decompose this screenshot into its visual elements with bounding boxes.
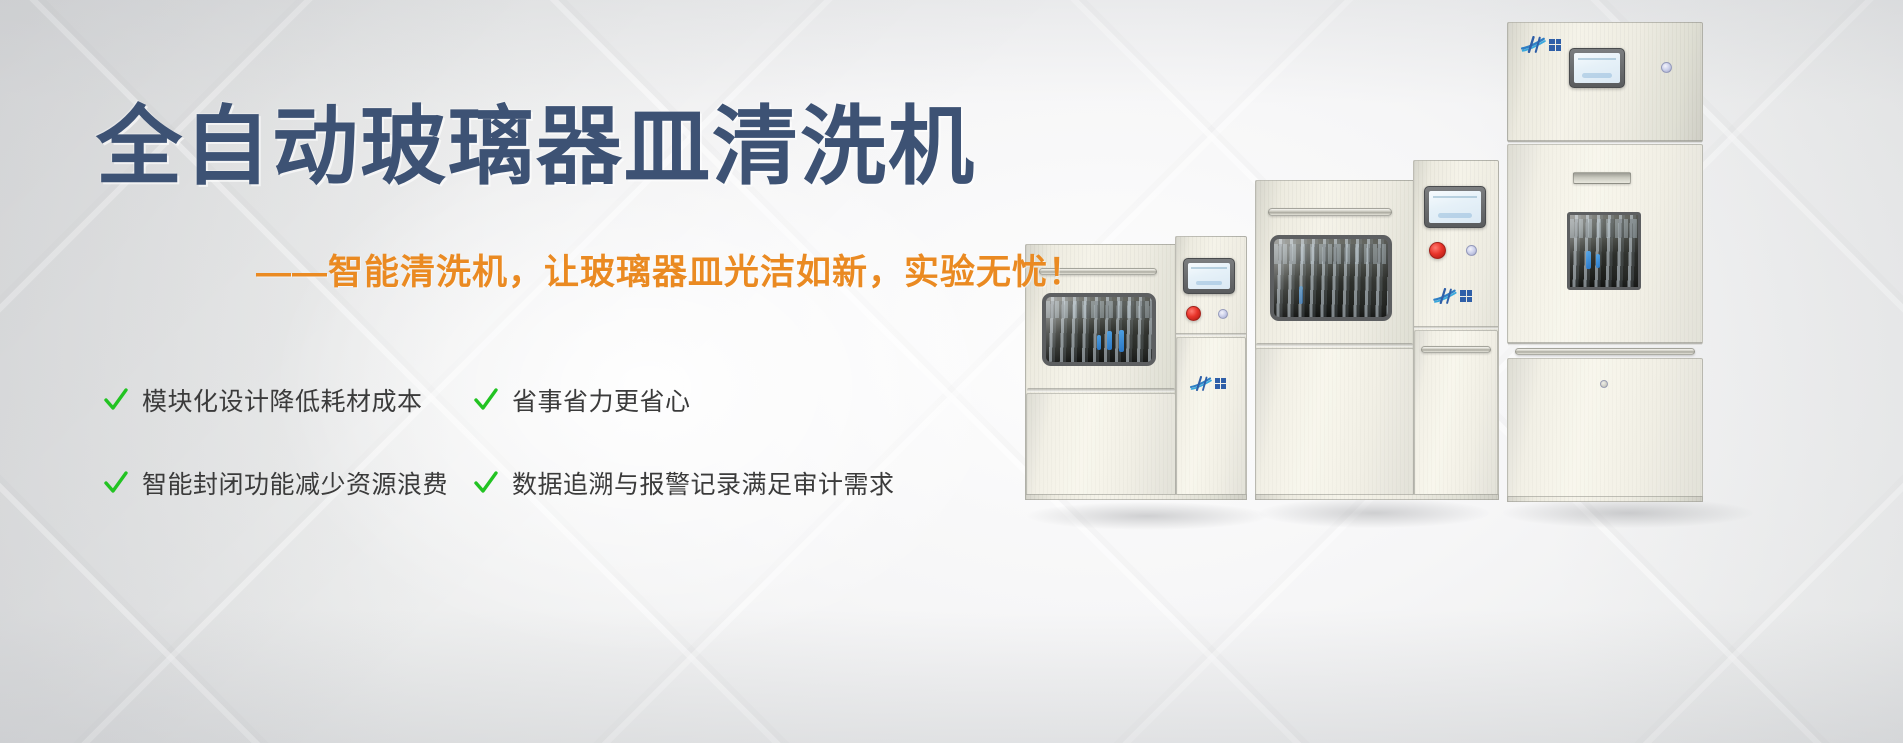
emergency-stop-button[interactable] xyxy=(1186,306,1201,321)
feature-list: 模块化设计降低耗材成本 省事省力更省心 智能封闭功能减少资源浪费 数据追溯与报警… xyxy=(104,382,964,501)
tower-seam xyxy=(1176,333,1246,336)
brand-squares-icon xyxy=(1549,39,1561,51)
check-icon xyxy=(474,387,498,413)
product-banner: 全自动玻璃器皿清洗机 ——智能清洗机，让玻璃器皿光洁如新，实验无忧！ 模块化设计… xyxy=(0,0,1903,743)
hmi-touchscreen[interactable] xyxy=(1424,186,1486,228)
list-item: 数据追溯与报警记录满足审计需求 xyxy=(474,465,894,501)
hmi-screen-content xyxy=(1574,53,1620,83)
section-seam xyxy=(1508,342,1702,346)
brand-squares-icon xyxy=(1215,378,1226,389)
window-glass-reflection xyxy=(1274,239,1388,317)
caster-wheel xyxy=(1275,496,1293,518)
lower-access-door[interactable] xyxy=(1255,348,1414,496)
brand-squares-icon xyxy=(1460,290,1472,302)
check-icon xyxy=(104,387,128,413)
list-item: 智能封闭功能减少资源浪费 xyxy=(104,465,474,501)
check-icon xyxy=(474,470,498,496)
power-indicator-icon[interactable] xyxy=(1661,62,1672,73)
list-item: 省事省力更省心 xyxy=(474,382,894,418)
list-item: 模块化设计降低耗材成本 xyxy=(104,382,474,418)
lower-cabinet-door[interactable] xyxy=(1507,358,1703,498)
cabinet-lock-icon[interactable] xyxy=(1600,380,1608,388)
list-item-label: 省事省力更省心 xyxy=(512,382,691,418)
lower-door-handle[interactable] xyxy=(1515,348,1695,355)
door-handle[interactable] xyxy=(1268,208,1392,216)
door-seam xyxy=(1256,343,1413,347)
window-glass-reflection xyxy=(1570,215,1638,287)
brand-h-mark xyxy=(1190,376,1212,391)
recessed-door-handle[interactable] xyxy=(1573,172,1631,184)
product-image-group xyxy=(1003,0,1903,743)
list-item-label: 数据追溯与报警记录满足审计需求 xyxy=(512,465,895,501)
page-title: 全自动玻璃器皿清洗机 xyxy=(96,101,976,194)
hmi-screen-content xyxy=(1188,263,1230,289)
brand-logo xyxy=(1521,36,1561,53)
check-icon xyxy=(104,470,128,496)
tower-seam xyxy=(1414,326,1498,329)
product-freestanding-washer xyxy=(1255,160,1499,504)
caster-wheel xyxy=(1207,496,1225,518)
list-item-label: 智能封闭功能减少资源浪费 xyxy=(142,465,448,501)
tower-lower-door[interactable] xyxy=(1414,330,1498,498)
brand-logo xyxy=(1190,376,1226,391)
caster-wheel xyxy=(1521,498,1539,520)
brand-h-mark xyxy=(1433,288,1457,304)
page-subtitle: ——智能清洗机，让玻璃器皿光洁如新，实验无忧！ xyxy=(256,244,1084,295)
caster-wheel xyxy=(1671,498,1689,520)
power-indicator-icon[interactable] xyxy=(1466,245,1477,256)
list-item-label: 模块化设计降低耗材成本 xyxy=(142,382,423,418)
chamber-viewing-window xyxy=(1567,212,1641,290)
brand-logo xyxy=(1433,288,1472,304)
banner-text-column: 全自动玻璃器皿清洗机 ——智能清洗机，让玻璃器皿光洁如新，实验无忧！ 模块化设计… xyxy=(0,0,1120,743)
tower-door-handle[interactable] xyxy=(1421,346,1491,353)
hmi-touchscreen[interactable] xyxy=(1569,48,1625,88)
caster-wheel xyxy=(1455,496,1473,518)
product-tall-column-washer xyxy=(1507,22,1703,504)
hmi-screen-content xyxy=(1429,191,1481,223)
brand-h-mark xyxy=(1521,36,1546,53)
emergency-stop-button[interactable] xyxy=(1429,242,1446,259)
power-indicator-icon[interactable] xyxy=(1218,309,1228,319)
hmi-touchscreen[interactable] xyxy=(1183,258,1235,294)
chamber-viewing-window xyxy=(1270,235,1392,321)
tower-lower-door[interactable] xyxy=(1176,337,1246,498)
